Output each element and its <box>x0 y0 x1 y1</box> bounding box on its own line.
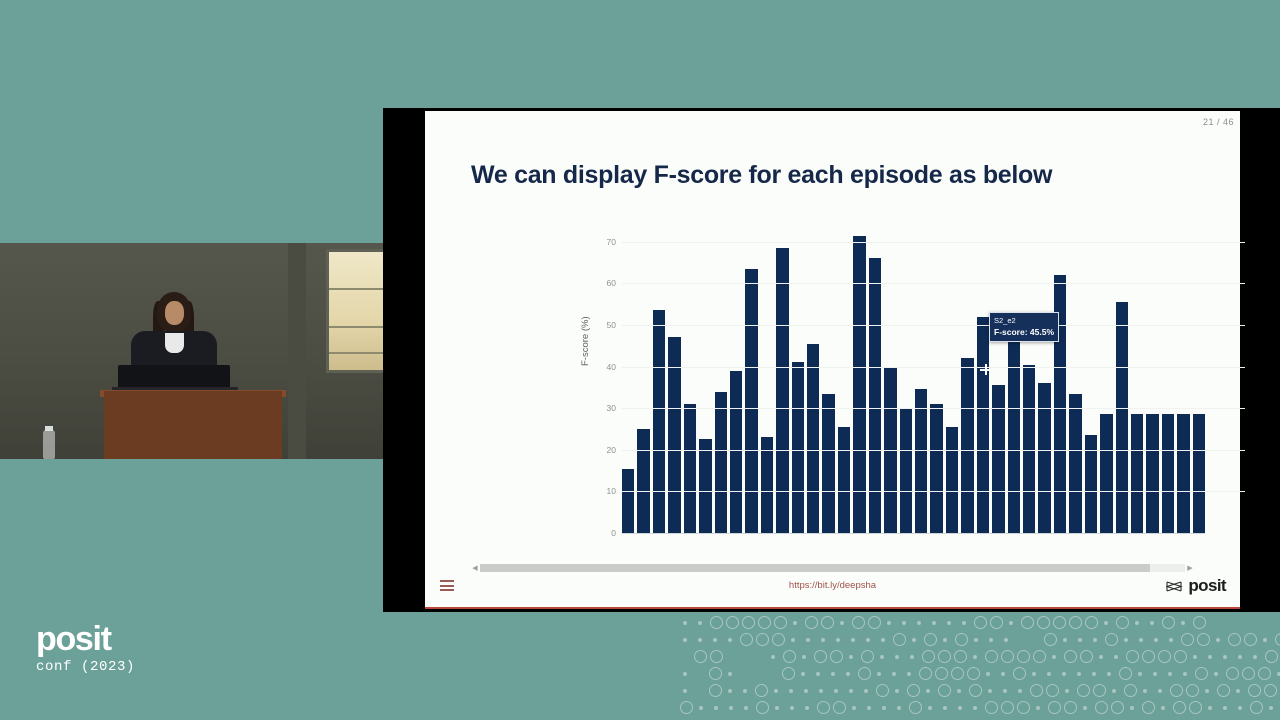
dot-outline <box>990 616 1003 629</box>
dot-filled <box>1154 638 1158 642</box>
dot-filled <box>840 621 844 625</box>
bar[interactable] <box>900 408 912 533</box>
dot-filled <box>989 638 993 642</box>
brand-name: posit <box>36 622 135 656</box>
dot-filled <box>1077 672 1081 676</box>
dot-space <box>680 650 694 663</box>
dot-filled <box>1047 672 1051 676</box>
bar[interactable] <box>1146 414 1158 533</box>
dot-filled <box>880 655 884 659</box>
dot-row <box>680 616 1209 629</box>
posit-mark-icon <box>1166 579 1183 594</box>
dot-filled <box>907 672 911 676</box>
dot-space <box>695 684 709 697</box>
dot-outline <box>756 701 769 714</box>
dot-outline <box>1142 650 1155 663</box>
dot-filled <box>1083 706 1087 710</box>
dot-outline <box>955 633 968 646</box>
plot-area <box>622 221 1205 534</box>
dot-outline <box>907 684 920 697</box>
dot-filled <box>1269 706 1273 710</box>
dot-outline <box>1095 701 1108 714</box>
dot-outline <box>710 616 723 629</box>
dot-outline <box>1085 616 1098 629</box>
dot-outline <box>985 650 998 663</box>
dot-outline <box>1142 701 1155 714</box>
dot-outline <box>1158 650 1171 663</box>
dot-filled <box>943 638 947 642</box>
dot-filled <box>973 706 977 710</box>
dot-filled <box>867 706 871 710</box>
dot-outline <box>1077 684 1090 697</box>
bar[interactable] <box>946 427 958 533</box>
y-axis-ticks: 010203040506070 <box>593 221 619 533</box>
dot-filled <box>881 638 885 642</box>
dot-filled <box>1018 689 1022 693</box>
dot-filled <box>1092 672 1096 676</box>
page-title: We can display F-score for each episode … <box>471 161 1052 190</box>
bar[interactable] <box>1038 383 1050 533</box>
dot-outline <box>861 650 874 663</box>
dot-filled <box>1114 655 1118 659</box>
dot-outline <box>726 616 739 629</box>
bar[interactable] <box>684 404 696 533</box>
dot-filled <box>714 706 718 710</box>
dot-filled <box>683 672 687 676</box>
dot-outline <box>1053 616 1066 629</box>
dot-filled <box>1253 655 1257 659</box>
bar[interactable] <box>1131 414 1143 533</box>
gridline-10 <box>622 491 1245 492</box>
dot-filled <box>910 655 914 659</box>
dot-outline <box>710 650 723 663</box>
bar[interactable] <box>1193 414 1205 533</box>
slide-content: 21 / 46 We can display F-score for each … <box>425 111 1240 609</box>
dot-filled <box>926 689 930 693</box>
dot-outline <box>876 684 889 697</box>
dot-filled <box>864 689 868 693</box>
dot-filled <box>1216 638 1220 642</box>
dot-filled <box>805 706 809 710</box>
fscore-bar-chart[interactable]: F-score (%) 010203040506070 S2_e2 F-scor… <box>580 221 1205 551</box>
dot-filled <box>902 621 906 625</box>
bar[interactable] <box>745 269 757 533</box>
y-tick-40: 40 <box>607 362 616 372</box>
dot-outline <box>1064 650 1077 663</box>
dot-outline <box>772 633 785 646</box>
dot-filled <box>1062 672 1066 676</box>
y-tick-50: 50 <box>607 320 616 330</box>
dot-filled <box>958 706 962 710</box>
dot-filled <box>1107 672 1111 676</box>
dot-filled <box>932 621 936 625</box>
dot-outline <box>1017 650 1030 663</box>
gridline-20 <box>622 450 1245 451</box>
bar[interactable] <box>822 394 834 533</box>
dot-outline <box>1044 633 1057 646</box>
y-tick-10: 10 <box>607 486 616 496</box>
dot-outline <box>1013 667 1026 680</box>
bar[interactable] <box>1162 414 1174 533</box>
tooltip-value-label: F-score: 45.5% <box>994 326 1054 338</box>
dot-outline <box>1017 701 1030 714</box>
dot-outline <box>1264 684 1277 697</box>
dot-outline <box>817 701 830 714</box>
dot-filled <box>1078 638 1082 642</box>
dot-outline <box>821 616 834 629</box>
dot-outline <box>1048 701 1061 714</box>
dot-outline <box>974 616 987 629</box>
gridline-50 <box>622 325 1245 326</box>
dot-filled <box>743 689 747 693</box>
dot-row <box>680 684 1280 697</box>
dot-outline <box>756 633 769 646</box>
bar[interactable] <box>1116 302 1128 533</box>
positconf-brand: posit conf (2023) <box>36 622 135 675</box>
dot-filled <box>774 689 778 693</box>
dot-filled <box>683 621 687 625</box>
dot-outline <box>783 650 796 663</box>
dot-filled <box>897 706 901 710</box>
dot-filled <box>1104 621 1108 625</box>
dot-outline <box>680 701 693 714</box>
dot-filled <box>793 621 797 625</box>
dot-filled <box>1161 706 1165 710</box>
dot-outline <box>852 616 865 629</box>
dot-filled <box>852 706 856 710</box>
dot-outline <box>1242 667 1255 680</box>
dot-outline <box>1258 667 1271 680</box>
slide-counter: 21 / 46 <box>1203 117 1234 127</box>
dot-space <box>695 667 709 680</box>
dot-outline <box>1181 633 1194 646</box>
dot-filled <box>1065 689 1069 693</box>
dot-filled <box>1263 638 1267 642</box>
dot-filled <box>1052 655 1056 659</box>
chart-tooltip: S2_e2 F-score: 45.5% <box>989 312 1059 342</box>
footer-url-link[interactable]: https://bit.ly/deepsha <box>425 580 1240 591</box>
dot-filled <box>974 638 978 642</box>
dot-space <box>754 650 768 663</box>
dot-outline <box>893 633 906 646</box>
dot-outline <box>833 701 846 714</box>
dot-outline <box>985 701 998 714</box>
bar[interactable] <box>1023 365 1035 533</box>
podium: posit conf (2023) <box>104 391 282 459</box>
dot-outline <box>967 667 980 680</box>
dot-space <box>768 667 782 680</box>
dot-filled <box>1168 672 1172 676</box>
dot-filled <box>988 689 992 693</box>
dot-outline <box>1030 684 1043 697</box>
dot-filled <box>728 689 732 693</box>
dot-row <box>680 633 1280 646</box>
dot-outline <box>1228 633 1241 646</box>
dot-filled <box>775 706 779 710</box>
dot-filled <box>1063 638 1067 642</box>
dot-outline <box>1080 650 1093 663</box>
screen-root: posit conf (2023) 21 / 46 We can display… <box>0 0 1280 720</box>
dot-filled <box>887 621 891 625</box>
dot-outline <box>868 616 881 629</box>
dot-row <box>680 667 1280 680</box>
crosshair-cursor-icon <box>980 364 991 375</box>
dot-filled <box>1208 706 1212 710</box>
dot-outline <box>922 650 935 663</box>
dot-filled <box>1112 689 1116 693</box>
dot-filled <box>973 655 977 659</box>
dot-space <box>1030 633 1044 646</box>
y-axis-label: F-score (%) <box>580 316 591 366</box>
dot-space <box>740 667 754 680</box>
dot-space <box>740 650 754 663</box>
dot-outline <box>954 650 967 663</box>
dot-filled <box>1139 638 1143 642</box>
dot-filled <box>1169 638 1173 642</box>
dot-filled <box>957 689 961 693</box>
dot-outline <box>1116 616 1129 629</box>
dot-outline <box>938 684 951 697</box>
dot-filled <box>943 706 947 710</box>
dot-filled <box>729 706 733 710</box>
dot-outline <box>1001 701 1014 714</box>
y-tick-0: 0 <box>611 528 616 538</box>
dot-outline <box>1111 701 1124 714</box>
dot-filled <box>1143 689 1147 693</box>
dot-outline <box>1174 650 1187 663</box>
dot-filled <box>790 706 794 710</box>
dot-filled <box>1004 638 1008 642</box>
dot-outline <box>709 667 722 680</box>
dot-filled <box>846 672 850 676</box>
dot-outline <box>1093 684 1106 697</box>
room-window <box>326 249 383 373</box>
dot-outline <box>1126 650 1139 663</box>
dot-filled <box>1183 672 1187 676</box>
bar[interactable] <box>792 362 804 533</box>
dot-filled <box>1214 672 1218 676</box>
dot-outline <box>709 684 722 697</box>
dot-outline <box>858 667 871 680</box>
dot-filled <box>698 638 702 642</box>
slide-footer: https://bit.ly/deepsha posit <box>425 569 1240 609</box>
dot-outline <box>1226 667 1239 680</box>
dot-outline <box>814 650 827 663</box>
bar[interactable] <box>1069 394 1081 533</box>
bar[interactable] <box>930 404 942 533</box>
dot-filled <box>1138 672 1142 676</box>
posit-logo: posit <box>1166 576 1226 596</box>
dot-filled <box>791 638 795 642</box>
dot-outline <box>1170 684 1183 697</box>
dot-filled <box>816 672 820 676</box>
dot-filled <box>1205 689 1209 693</box>
dot-filled <box>1036 706 1040 710</box>
dot-filled <box>962 621 966 625</box>
dot-outline <box>742 616 755 629</box>
dot-filled <box>801 672 805 676</box>
dot-outline <box>1250 701 1263 714</box>
presenter-video[interactable]: posit conf (2023) <box>0 243 383 459</box>
decorative-dot-pattern <box>680 616 1280 720</box>
dot-filled <box>1238 655 1242 659</box>
dot-filled <box>866 638 870 642</box>
bar[interactable] <box>761 437 773 533</box>
bar[interactable] <box>838 427 850 533</box>
dot-filled <box>1238 706 1242 710</box>
dot-filled <box>1093 638 1097 642</box>
dot-filled <box>713 638 717 642</box>
dot-filled <box>1181 621 1185 625</box>
dot-filled <box>819 689 823 693</box>
y-tick-70: 70 <box>607 237 616 247</box>
dot-outline <box>1021 616 1034 629</box>
dot-filled <box>1003 689 1007 693</box>
dot-filled <box>1099 655 1103 659</box>
dot-outline <box>1046 684 1059 697</box>
dot-outline <box>938 650 951 663</box>
tooltip-series-label: S2_e2 <box>994 315 1054 326</box>
dot-space <box>754 667 768 680</box>
gridline-70 <box>622 242 1245 243</box>
dot-filled <box>831 672 835 676</box>
dot-filled <box>986 672 990 676</box>
dot-outline <box>1064 701 1077 714</box>
bar[interactable] <box>1008 319 1020 533</box>
dot-filled <box>728 672 732 676</box>
dot-filled <box>1223 655 1227 659</box>
dot-filled <box>947 621 951 625</box>
dot-outline <box>1197 633 1210 646</box>
dot-filled <box>683 689 687 693</box>
dot-filled <box>771 655 775 659</box>
bar[interactable] <box>699 439 711 533</box>
bar[interactable] <box>853 236 865 533</box>
dot-space <box>1016 633 1030 646</box>
dot-filled <box>928 706 932 710</box>
dot-filled <box>877 672 881 676</box>
dot-outline <box>740 633 753 646</box>
dot-outline <box>1033 650 1046 663</box>
dot-outline <box>1173 701 1186 714</box>
bar[interactable] <box>622 469 634 533</box>
slide-viewer[interactable]: 21 / 46 We can display F-score for each … <box>383 108 1280 612</box>
dot-filled <box>821 638 825 642</box>
dot-filled <box>1223 706 1227 710</box>
bar[interactable] <box>715 392 727 533</box>
dot-filled <box>849 689 853 693</box>
dot-outline <box>782 667 795 680</box>
dot-filled <box>1135 621 1139 625</box>
bar[interactable] <box>637 429 649 533</box>
dot-filled <box>806 638 810 642</box>
dot-outline <box>1275 633 1280 646</box>
dot-outline <box>758 616 771 629</box>
dot-filled <box>1236 689 1240 693</box>
dot-filled <box>1208 655 1212 659</box>
dot-outline <box>1124 684 1137 697</box>
dot-outline <box>1001 650 1014 663</box>
dot-filled <box>882 706 886 710</box>
dot-filled <box>917 621 921 625</box>
bar[interactable] <box>1100 414 1112 533</box>
brand-subtitle: conf (2023) <box>36 659 135 675</box>
dot-outline <box>969 684 982 697</box>
dot-filled <box>912 638 916 642</box>
dot-filled <box>836 638 840 642</box>
dot-filled <box>698 621 702 625</box>
dot-outline <box>1217 684 1230 697</box>
door-edge <box>288 243 306 459</box>
dot-filled <box>802 655 806 659</box>
dot-filled <box>744 706 748 710</box>
dot-outline <box>830 650 843 663</box>
gridline-40 <box>622 367 1245 368</box>
dot-outline <box>1119 667 1132 680</box>
dot-filled <box>789 689 793 693</box>
dot-outline <box>1189 701 1202 714</box>
dot-outline <box>919 667 932 680</box>
speaker-face <box>165 301 184 325</box>
dot-filled <box>1124 638 1128 642</box>
dot-filled <box>728 638 732 642</box>
dot-outline <box>774 616 787 629</box>
bar[interactable] <box>653 310 665 533</box>
dot-outline <box>1195 667 1208 680</box>
dot-filled <box>1193 655 1197 659</box>
bar[interactable] <box>776 248 788 533</box>
dot-outline <box>1069 616 1082 629</box>
gridline-60 <box>622 283 1245 284</box>
dot-outline <box>909 701 922 714</box>
dot-outline <box>935 667 948 680</box>
bar[interactable] <box>730 371 742 533</box>
speaker-shirt <box>165 333 184 353</box>
dot-filled <box>851 638 855 642</box>
bar-series[interactable] <box>622 221 1205 533</box>
bar[interactable] <box>1177 414 1189 533</box>
dot-outline <box>1105 633 1118 646</box>
y-tick-60: 60 <box>607 278 616 288</box>
dot-filled <box>699 706 703 710</box>
dot-outline <box>694 650 707 663</box>
dot-filled <box>804 689 808 693</box>
dot-filled <box>892 672 896 676</box>
dot-filled <box>1009 621 1013 625</box>
dot-outline <box>805 616 818 629</box>
dot-outline <box>1037 616 1050 629</box>
dot-outline <box>924 633 937 646</box>
bar[interactable] <box>977 317 989 533</box>
posit-logo-text: posit <box>1188 576 1226 596</box>
dot-filled <box>895 655 899 659</box>
bar[interactable] <box>807 344 819 533</box>
bar[interactable] <box>961 358 973 533</box>
bar[interactable] <box>915 389 927 533</box>
water-bottle <box>43 430 55 459</box>
dot-filled <box>1001 672 1005 676</box>
dot-outline <box>1265 650 1278 663</box>
dot-space <box>726 650 740 663</box>
dot-filled <box>1130 706 1134 710</box>
dot-filled <box>834 689 838 693</box>
dot-filled <box>849 655 853 659</box>
dot-filled <box>683 638 687 642</box>
dot-outline <box>1162 616 1175 629</box>
dot-filled <box>1153 672 1157 676</box>
gridline-30 <box>622 408 1245 409</box>
dot-filled <box>1150 621 1154 625</box>
